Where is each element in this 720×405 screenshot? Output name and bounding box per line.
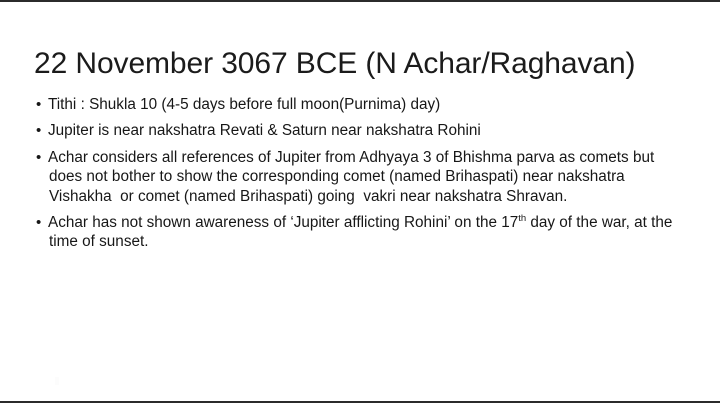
bullet-point-icon: • (37, 95, 41, 114)
bullet-point-icon: • (37, 121, 41, 140)
bullet-item-achar-comet-references: • Achar considers all references of Jupi… (36, 148, 686, 206)
bullet-list: • Tithi : Shukla 10 (4-5 days before ful… (36, 95, 686, 259)
bullet-text-jupiter-saturn-nakshatra: Jupiter is near nakshatra Revati & Satur… (49, 121, 686, 140)
background-artifact (55, 377, 59, 385)
bullet-point-icon: • (37, 148, 41, 167)
slide-top-border (0, 0, 720, 2)
bullet-item-achar-rohini-awareness: • Achar has not shown awareness of ‘Jupi… (36, 213, 686, 252)
bullet-text-tithi: Tithi : Shukla 10 (4-5 days before full … (49, 95, 686, 114)
bullet-item-tithi: • Tithi : Shukla 10 (4-5 days before ful… (36, 95, 686, 114)
slide-title: 22 November 3067 BCE (N Achar/Raghavan) (34, 46, 694, 82)
slide-bottom-border (0, 401, 720, 403)
bullet-text-achar-rohini-awareness: Achar has not shown awareness of ‘Jupite… (49, 213, 686, 252)
bullet-text-achar-comet-references: Achar considers all references of Jupite… (49, 148, 686, 206)
bullet-point-icon: • (37, 213, 41, 232)
ordinal-suffix: th (518, 213, 526, 224)
bullet-text-segment-before-ordinal: Achar has not shown awareness of ‘Jupite… (48, 214, 518, 231)
presentation-slide: 22 November 3067 BCE (N Achar/Raghavan) … (0, 0, 720, 405)
bullet-item-jupiter-saturn-nakshatra: • Jupiter is near nakshatra Revati & Sat… (36, 121, 686, 140)
